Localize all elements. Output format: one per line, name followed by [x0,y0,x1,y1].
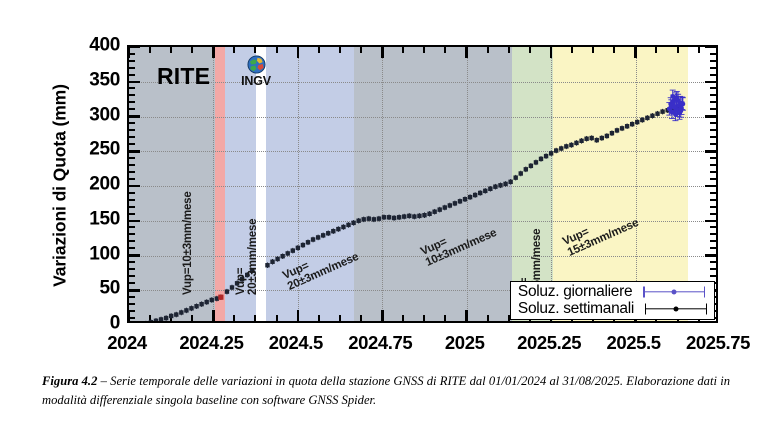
chart-legend: Soluz. giornaliereSoluz. settimanali [510,281,715,320]
chart-figure: Variazioni di Quota (mm) 050100150200250… [0,0,770,360]
caption-line1: Serie temporale delle variazioni in quot… [110,374,623,388]
y-tick-label: 100 [89,244,120,263]
x-tick-label: 2025 [445,332,485,354]
caption-dash: – [97,374,110,388]
legend-marker [643,302,709,316]
series-soluz-giornaliere [666,90,686,121]
x-tick-label: 2025.5 [606,332,660,354]
legend-label: Soluz. giornaliere [518,284,632,300]
y-tick-label: 300 [89,105,120,124]
caption-label: Figura 4.2 [42,374,97,388]
station-label: RITE [157,63,210,90]
ingv-logo-block: INGV [233,55,279,88]
highlight-point [218,295,223,300]
vup-annotation: Vup= 20±3mm/mese [235,219,259,295]
y-tick-label: 150 [89,209,120,228]
legend-label: Soluz. settimanali [518,301,634,317]
x-tick-label: 2024.5 [269,332,323,354]
y-tick-label: 350 [89,70,120,89]
x-tick-label: 2024.75 [348,332,412,354]
ingv-label: INGV [233,74,279,88]
figure-page: Variazioni di Quota (mm) 050100150200250… [0,0,770,431]
x-tick-label: 2025.75 [686,332,750,354]
x-tick-label: 2025.25 [517,332,581,354]
legend-item: Soluz. settimanali [518,300,709,317]
legend-marker [641,285,707,299]
plot-area: Vup=10±3mm/meseVup= 20±3mm/meseVup= 20±3… [127,45,718,323]
x-tick-label: 2024 [107,332,147,354]
legend-item: Soluz. giornaliere [518,283,709,300]
figure-caption: Figura 4.2 – Serie temporale delle varia… [42,372,730,409]
x-axis-tick-labels: 20242024.252024.52024.7520252025.252025.… [0,325,770,359]
y-tick-label: 200 [89,175,120,194]
y-tick-label: 400 [89,36,120,55]
y-tick-label: 250 [89,140,120,159]
x-tick-label: 2024.25 [179,332,243,354]
y-tick-label: 50 [99,279,120,298]
y-axis-tick-labels: 050100150200250300350400 [52,0,120,360]
globe-icon [247,55,266,74]
vup-annotation: Vup=10±3mm/mese [182,191,194,295]
